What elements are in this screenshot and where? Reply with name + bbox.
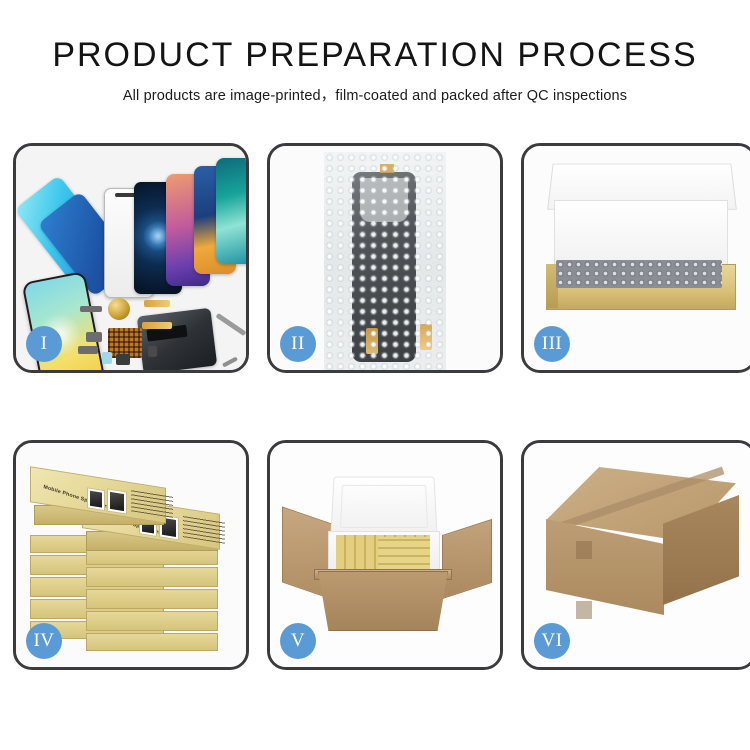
small-part-icon [80, 306, 102, 312]
bubble-wrapped-contents-icon [556, 260, 722, 288]
page-subtitle: All products are image-printed，film-coat… [0, 84, 750, 105]
small-part-icon [78, 346, 98, 354]
process-step-panel-6[interactable]: VI [521, 440, 750, 670]
step-badge-1: I [26, 326, 62, 362]
bubble-bag-icon [324, 152, 446, 370]
small-part-icon [86, 332, 102, 342]
step-badge-2: II [280, 326, 316, 362]
step-badge-4: IV [26, 623, 62, 659]
page-title: PRODUCT PREPARATION PROCESS [0, 38, 750, 74]
packed-boxes-icon [378, 537, 430, 571]
step-badge-6: VI [534, 623, 570, 659]
flex-cable-icon [144, 300, 170, 307]
process-step-panel-3[interactable]: III [521, 143, 750, 373]
step-badge-3: III [534, 326, 570, 362]
process-step-panel-1[interactable]: I [13, 143, 249, 373]
carton-seam-icon [576, 541, 592, 559]
process-step-panel-5[interactable]: V [267, 440, 503, 670]
phone-screen-green-icon [216, 158, 246, 264]
page-header: PRODUCT PREPARATION PROCESS All products… [0, 0, 750, 105]
small-part-icon [102, 352, 112, 364]
carton-seam-icon [576, 601, 592, 619]
carton-front-icon [318, 571, 448, 631]
small-part-icon [116, 354, 130, 365]
logic-board-icon [137, 308, 218, 370]
process-step-panel-4[interactable]: Mobile Phone Spare Parts Mobile Phone Sp… [13, 440, 249, 670]
flex-cable-icon [142, 322, 172, 329]
small-part-icon [148, 346, 157, 357]
speaker-part-icon [108, 298, 130, 320]
process-step-panel-2[interactable]: II [267, 143, 503, 373]
step-badge-5: V [280, 623, 316, 659]
styrofoam-lid-icon [330, 477, 437, 538]
process-step-grid: I II III [13, 143, 737, 670]
